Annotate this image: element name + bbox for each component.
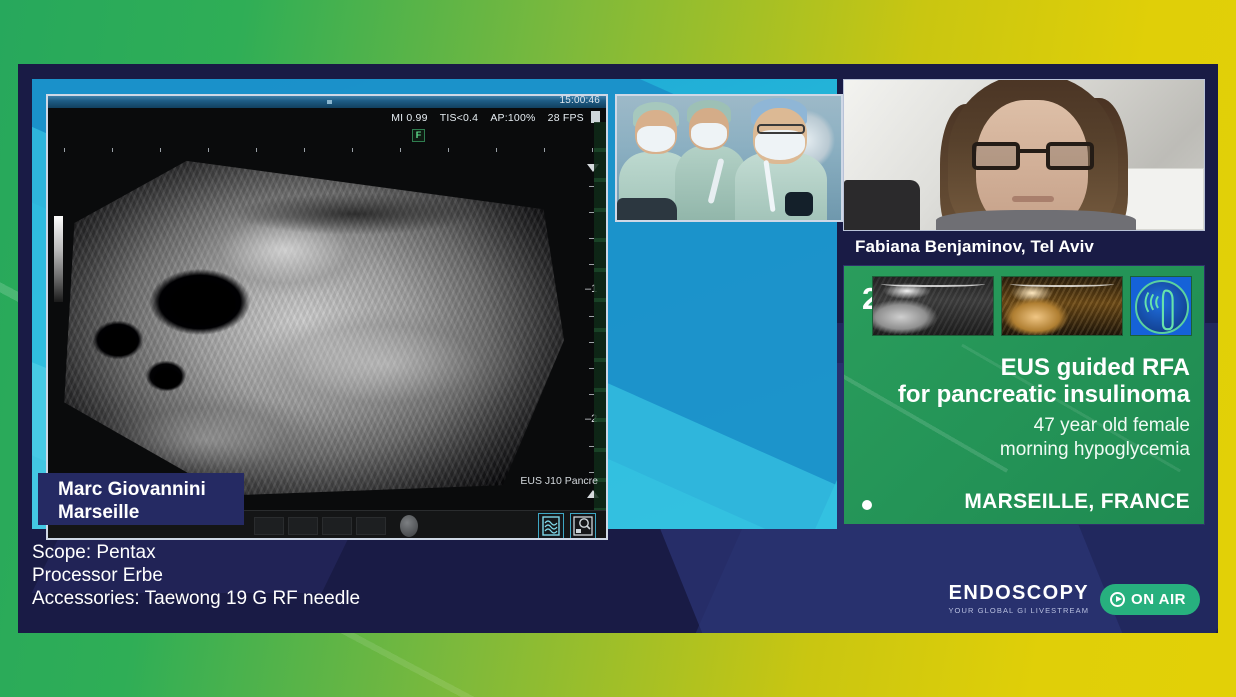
on-air-badge[interactable]: ON AIR (1100, 584, 1200, 615)
remote-participant-video[interactable] (843, 79, 1205, 231)
ruler-tick (208, 148, 209, 152)
or-equipment-cart (617, 198, 677, 220)
probe-preset-label: EUS J10 Pancre (520, 474, 598, 488)
credits-accessories: Accessories: Taewong 19 G RF needle (32, 587, 360, 610)
ultrasound-side-strip (594, 122, 606, 510)
equipment-credits: Scope: Pentax Processor Erbe Accessories… (32, 541, 360, 610)
participant-shoulders (936, 210, 1136, 231)
ultrasound-osd-readout: MI 0.99 TIS<0.4 AP:100% 28 FPS (382, 111, 600, 124)
credits-processor: Processor Erbe (32, 564, 360, 587)
ultrasound-feed-region[interactable]: 15:00:46 MI 0.99 TIS<0.4 AP:100% 28 FPS … (32, 79, 837, 529)
case-title-line2: for pancreatic insulinoma (860, 381, 1190, 408)
horizontal-ruler (64, 148, 592, 156)
ruler-tick (496, 148, 497, 152)
image-magnifier-icon[interactable] (570, 513, 596, 539)
ruler-tick (352, 148, 353, 152)
freeze-badge: F (412, 129, 425, 142)
toolbar-slot-1[interactable] (254, 517, 284, 535)
presenter-name-plate: Marc Giovannini Marseille (38, 473, 244, 525)
brand-tagline: YOUR GLOBAL GI LIVESTREAM (948, 606, 1089, 615)
ultrasound-grayscale-thumbnail (872, 276, 994, 336)
toolbar-slot-2[interactable] (288, 517, 318, 535)
osd-mi: MI 0.99 (391, 112, 427, 124)
case-subtitle-line2: morning hypoglycemia (860, 438, 1190, 462)
play-circle-icon (1110, 592, 1125, 607)
ruler-tick (256, 148, 257, 152)
ultrasound-titlebar: 15:00:46 (48, 96, 606, 108)
ultrasound-screen: MI 0.99 TIS<0.4 AP:100% 28 FPS F –1–2 (48, 108, 606, 510)
eus-probe-glyph (1131, 277, 1191, 335)
glasses-icon (972, 142, 1094, 172)
operating-room-inset-video[interactable] (615, 94, 843, 222)
ruler-tick (304, 148, 305, 152)
status-bullet (862, 500, 872, 510)
toolbar-knob[interactable] (400, 515, 418, 537)
on-air-label: ON AIR (1131, 591, 1186, 608)
thumbnail-probe-line (881, 281, 985, 287)
case-thumbnails (872, 276, 1192, 336)
toolbar-slot-4[interactable] (356, 517, 386, 535)
ultrasound-contrast-thumbnail (1001, 276, 1123, 336)
case-info-card: 25 EUS g (843, 265, 1205, 525)
ruler-tick (160, 148, 161, 152)
case-subtitle: 47 year old female morning hypoglycemia (860, 414, 1190, 462)
osd-tis: TIS<0.4 (440, 112, 478, 124)
osd-ap: AP:100% (490, 112, 535, 124)
waveform-measure-icon[interactable] (538, 513, 564, 539)
ruler-tick (544, 148, 545, 152)
brand-title: ENDOSCOPY (948, 583, 1089, 603)
grayscale-bar (54, 216, 63, 302)
presenter-name: Marc Giovannini (58, 478, 244, 501)
ultrasound-clock: 15:00:46 (559, 95, 600, 106)
eus-probe-logo-icon (1130, 276, 1192, 336)
ruler-tick (592, 148, 593, 152)
waveform-measure-glyph (539, 514, 563, 538)
case-title-line1: EUS guided RFA (860, 354, 1190, 381)
image-magnifier-glyph (571, 514, 595, 538)
main-broadcast-panel: 15:00:46 MI 0.99 TIS<0.4 AP:100% 28 FPS … (18, 64, 1218, 633)
ruler-tick (64, 148, 65, 152)
ruler-tick (400, 148, 401, 152)
case-subtitle-line1: 47 year old female (860, 414, 1190, 438)
ultrasound-bmode-image (54, 154, 564, 499)
remote-participant-name: Fabiana Benjaminov, Tel Aviv (843, 231, 1205, 263)
broadcast-stage: 15:00:46 MI 0.99 TIS<0.4 AP:100% 28 FPS … (0, 0, 1236, 697)
case-city: MARSEILLE, FRANCE (964, 490, 1190, 514)
brand-lockup: ENDOSCOPY YOUR GLOBAL GI LIVESTREAM ON A… (948, 583, 1200, 615)
brand-text: ENDOSCOPY YOUR GLOBAL GI LIVESTREAM (948, 583, 1089, 615)
ruler-tick (448, 148, 449, 152)
presenter-city: Marseille (58, 501, 244, 524)
thumbnail-probe-line-2 (1010, 281, 1114, 287)
titlebar-indicator (327, 100, 332, 104)
case-title: EUS guided RFA for pancreatic insulinoma (860, 354, 1190, 408)
webcam-dark-object (844, 180, 920, 230)
toolbar-slot-3[interactable] (322, 517, 352, 535)
credits-scope: Scope: Pentax (32, 541, 360, 564)
osd-fps: 28 FPS (548, 112, 584, 124)
participant-mouth (1012, 196, 1054, 202)
ruler-tick (112, 148, 113, 152)
